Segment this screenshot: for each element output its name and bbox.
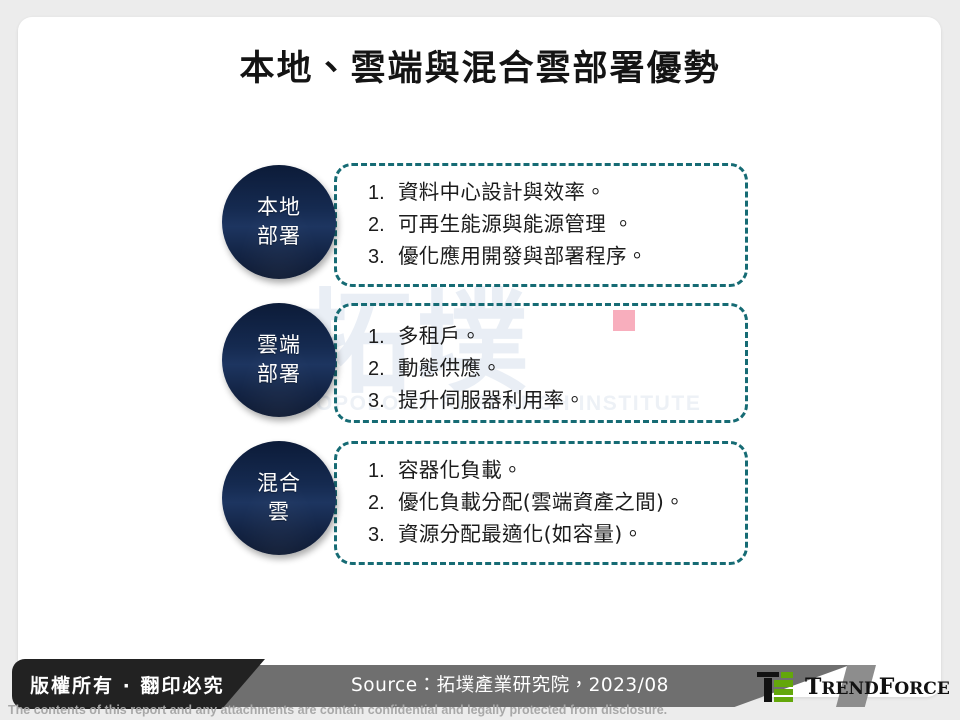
- list-item-text: 容器化負載。: [398, 455, 523, 486]
- list-item-number: 3.: [368, 242, 398, 273]
- content-row: 本地 部署 1. 資料中心設計與效率。 2. 可再生能源與能源管理 。 3. 優…: [0, 155, 960, 295]
- list-item: 2. 可再生能源與能源管理 。: [368, 209, 758, 241]
- list-item: 1. 多租戶。: [368, 321, 758, 353]
- panel-list: 1. 容器化負載。 2. 優化負載分配(雲端資產之間)。 3. 資源分配最適化(…: [368, 455, 758, 551]
- circle-label-line2: 雲: [268, 498, 290, 527]
- list-item: 2. 優化負載分配(雲端資產之間)。: [368, 487, 758, 519]
- circle-label-line2: 部署: [257, 222, 301, 251]
- panel-list: 1. 資料中心設計與效率。 2. 可再生能源與能源管理 。 3. 優化應用開發與…: [368, 177, 758, 273]
- list-item-text: 優化應用開發與部署程序。: [398, 241, 648, 272]
- source-text: Source：拓墣產業研究院，2023/08: [300, 671, 720, 697]
- disclaimer-text: The contents of this report and any atta…: [8, 703, 667, 717]
- list-item-text: 動態供應。: [398, 353, 502, 384]
- circle-label-line1: 雲端: [257, 331, 301, 360]
- list-item-number: 3.: [368, 386, 398, 417]
- trendforce-logo-mark-icon: [757, 672, 797, 702]
- list-item: 3. 優化應用開發與部署程序。: [368, 241, 758, 273]
- circle-label-line1: 混合: [257, 469, 301, 498]
- slide-root: 拓墣 TOPOLOGY RESEARCH INSTITUTE 本地、雲端與混合雲…: [0, 0, 960, 720]
- category-circle-hybrid-cloud[interactable]: 混合 雲: [222, 441, 336, 555]
- list-item: 3. 提升伺服器利用率。: [368, 385, 758, 417]
- list-item-number: 2.: [368, 210, 398, 241]
- list-item-text: 多租戶。: [398, 321, 481, 352]
- list-item-number: 2.: [368, 488, 398, 519]
- circle-label-line2: 部署: [257, 360, 301, 389]
- content-row: 混合 雲 1. 容器化負載。 2. 優化負載分配(雲端資產之間)。 3. 資源分…: [0, 433, 960, 573]
- content-row: 雲端 部署 1. 多租戶。 2. 動態供應。 3. 提升伺服器利用率。: [0, 293, 960, 433]
- panel-list: 1. 多租戶。 2. 動態供應。 3. 提升伺服器利用率。: [368, 321, 758, 417]
- trendforce-logo-text: TRENDFORCE: [805, 674, 950, 700]
- list-item-number: 1.: [368, 456, 398, 487]
- logo-text-rend: REND: [821, 679, 878, 699]
- content-rows: 本地 部署 1. 資料中心設計與效率。 2. 可再生能源與能源管理 。 3. 優…: [0, 0, 960, 720]
- list-item-text: 可再生能源與能源管理 。: [398, 209, 634, 240]
- trendforce-logo[interactable]: TRENDFORCE: [757, 669, 950, 705]
- copyright-text: 版權所有 · 翻印必究: [30, 671, 224, 698]
- list-item-text: 資源分配最適化(如容量)。: [398, 519, 643, 550]
- logo-text-orce: ORCE: [894, 679, 949, 699]
- category-circle-cloud[interactable]: 雲端 部署: [222, 303, 336, 417]
- list-item: 1. 容器化負載。: [368, 455, 758, 487]
- logo-text-t: T: [805, 674, 821, 700]
- list-item-number: 1.: [368, 178, 398, 209]
- list-item-text: 提升伺服器利用率。: [398, 385, 585, 416]
- list-item: 1. 資料中心設計與效率。: [368, 177, 758, 209]
- list-item: 3. 資源分配最適化(如容量)。: [368, 519, 758, 551]
- list-item-number: 3.: [368, 520, 398, 551]
- list-item: 2. 動態供應。: [368, 353, 758, 385]
- list-item-text: 優化負載分配(雲端資產之間)。: [398, 487, 685, 518]
- list-item-text: 資料中心設計與效率。: [398, 177, 606, 208]
- category-circle-on-premise[interactable]: 本地 部署: [222, 165, 336, 279]
- logo-text-f: F: [879, 674, 895, 700]
- list-item-number: 1.: [368, 322, 398, 353]
- list-item-number: 2.: [368, 354, 398, 385]
- circle-label-line1: 本地: [257, 193, 301, 222]
- page-title: 本地、雲端與混合雲部署優勢: [0, 40, 960, 91]
